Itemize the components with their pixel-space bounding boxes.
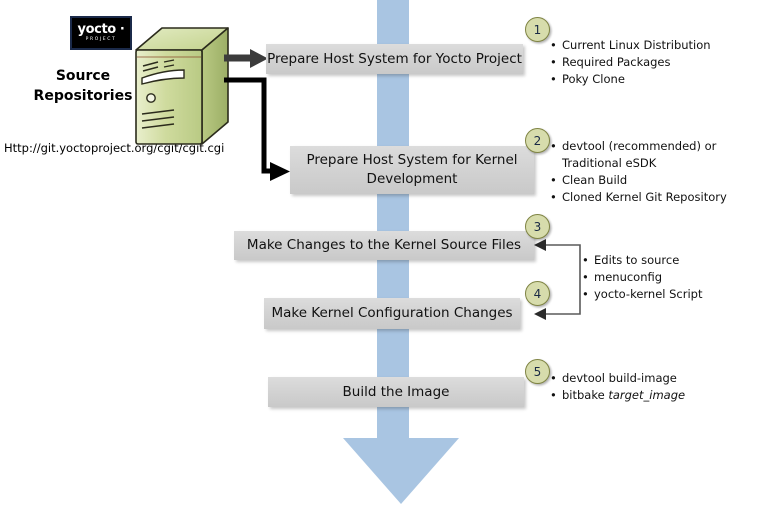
step-badge-1: 1 [525,17,550,42]
step-5-bullets: devtool build-image bitbake target_image [550,370,765,404]
step-box-1[interactable]: Prepare Host System for Yocto Project [266,44,523,74]
step-badge-5: 5 [525,359,550,384]
list-item: yocto-kernel Script [582,286,767,303]
step-badge-4: 4 [525,281,550,306]
step-badge-2: 2 [525,128,550,153]
step-box-4-label: Make Kernel Configuration Changes [271,304,512,323]
step-box-5-label: Build the Image [343,383,450,402]
list-item: devtool build-image [550,370,765,387]
step-box-2[interactable]: Prepare Host System for Kernel Developme… [290,146,534,194]
step-badge-1-number: 1 [534,23,542,37]
step-box-5[interactable]: Build the Image [268,377,524,407]
list-item: Required Packages [550,54,765,71]
step-box-3-label: Make Changes to the Kernel Source Files [247,236,521,255]
list-item: Current Linux Distribution [550,37,765,54]
list-item: Poky Clone [550,71,765,88]
list-item: Edits to source [582,252,767,269]
list-item: devtool (recommended) or Traditional eSD… [550,138,765,172]
step-badge-5-number: 5 [534,365,542,379]
step-box-2-line1: Prepare Host System for Kernel [306,152,517,168]
step-box-4[interactable]: Make Kernel Configuration Changes [264,298,520,329]
step-box-1-label: Prepare Host System for Yocto Project [267,50,522,69]
step-2-bullets: devtool (recommended) or Traditional eSD… [550,138,765,206]
step-badge-4-number: 4 [534,287,542,301]
list-item: menuconfig [582,269,767,286]
list-item: Cloned Kernel Git Repository [550,189,765,206]
bitbake-target-image-param: target_image [608,388,685,402]
step-badge-2-number: 2 [534,134,542,148]
step-box-2-line2: Development [367,171,458,187]
step-box-2-label: Prepare Host System for Kernel Developme… [306,151,517,189]
diagram-canvas: yocto · PROJECT Source Repositories Http… [0,0,769,517]
step-1-bullets: Current Linux Distribution Required Pack… [550,37,765,88]
bitbake-command-prefix: bitbake [562,388,608,402]
step-badge-3: 3 [525,214,550,239]
steps-3-4-bullets: Edits to source menuconfig yocto-kernel … [582,252,767,303]
step-badge-3-number: 3 [534,220,542,234]
step-box-3[interactable]: Make Changes to the Kernel Source Files [234,231,534,260]
list-item: bitbake target_image [550,387,765,404]
list-item: Clean Build [550,172,765,189]
